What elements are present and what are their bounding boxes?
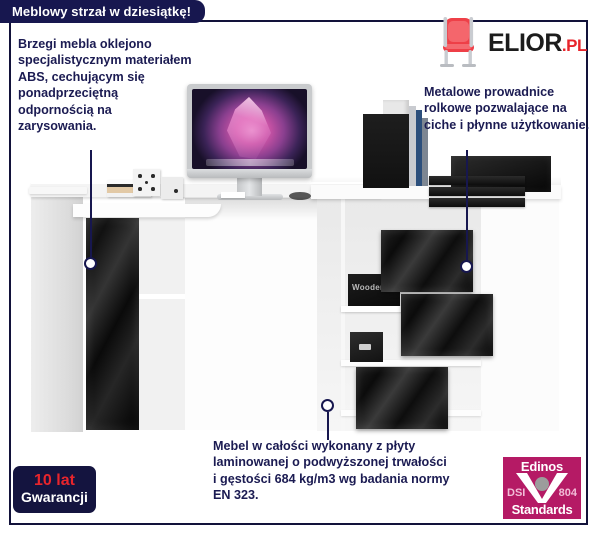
shelf-storage-box: [350, 332, 383, 362]
headline-text: Meblowy strzał w dziesiątkę!: [12, 4, 191, 19]
letter-tray-top: [429, 176, 525, 185]
border-bottom: [9, 523, 588, 525]
edinos-name: Edinos: [521, 460, 563, 473]
callout-marker-right: [460, 260, 473, 273]
infographic-canvas: Wooden: [0, 0, 601, 534]
leader-line-bottom: [327, 412, 329, 440]
warranty-years: 10 lat: [34, 473, 75, 489]
drawer-middle: [401, 294, 493, 356]
brand-logo[interactable]: ELIOR.PL: [432, 14, 582, 72]
screen-dock: [206, 159, 294, 166]
desk-knee-space: [185, 198, 317, 430]
left-cabinet-gloss-door: [86, 218, 139, 430]
leader-line-left: [90, 150, 92, 258]
edinos-code-left: DSI: [507, 488, 525, 499]
keyboard-shelf: [73, 204, 221, 217]
callout-text-edge-abs: Brzegi mebla oklejono specjalistycznym m…: [18, 36, 193, 135]
drawer-bottom: [356, 367, 448, 429]
callout-marker-bottom: [321, 399, 334, 412]
pedestal-divider: [341, 199, 345, 431]
dice-decor-large: [133, 169, 160, 196]
red-chair-icon: [432, 15, 484, 71]
monitor-screen: [192, 89, 307, 169]
callout-marker-left: [84, 257, 97, 270]
edinos-certificate-badge: Edinos DSI 804 Standards: [503, 457, 581, 519]
brand-wordmark: ELIOR.PL: [488, 31, 587, 56]
leader-line-right: [466, 150, 468, 261]
book-3: [415, 110, 422, 186]
headline-banner: Meblowy strzał w dziesiątkę!: [0, 0, 205, 23]
mouse: [289, 192, 311, 200]
wallpaper-crystal: [220, 97, 278, 159]
monitor-chin: [187, 169, 312, 178]
callout-text-metal-runners: Metalowe prowadnice rolkowe pozwalające …: [424, 84, 592, 133]
dice-decor-small: [161, 177, 183, 199]
brand-name: ELIOR: [488, 29, 562, 57]
brand-tld: .PL: [562, 36, 587, 55]
desk-left-panel-cap: [29, 187, 87, 194]
letter-tray-middle: [429, 187, 525, 196]
edinos-code-right: 804: [559, 488, 577, 499]
warranty-label: Gwarancji: [21, 489, 88, 505]
warranty-badge: 10 lat Gwarancji: [13, 466, 96, 513]
left-open-shelf: [139, 218, 185, 430]
edinos-standards-label: Standards: [503, 503, 581, 516]
letter-tray-bottom: [429, 198, 525, 207]
callout-text-board-density: Mebel w całości wykonany z płyty laminow…: [213, 438, 453, 504]
desk-paper: [221, 192, 245, 198]
left-shelf-board: [139, 294, 185, 299]
magazine-file-holder: [363, 114, 409, 188]
drawer-top: [381, 230, 473, 292]
desk-left-panel: [31, 192, 83, 432]
